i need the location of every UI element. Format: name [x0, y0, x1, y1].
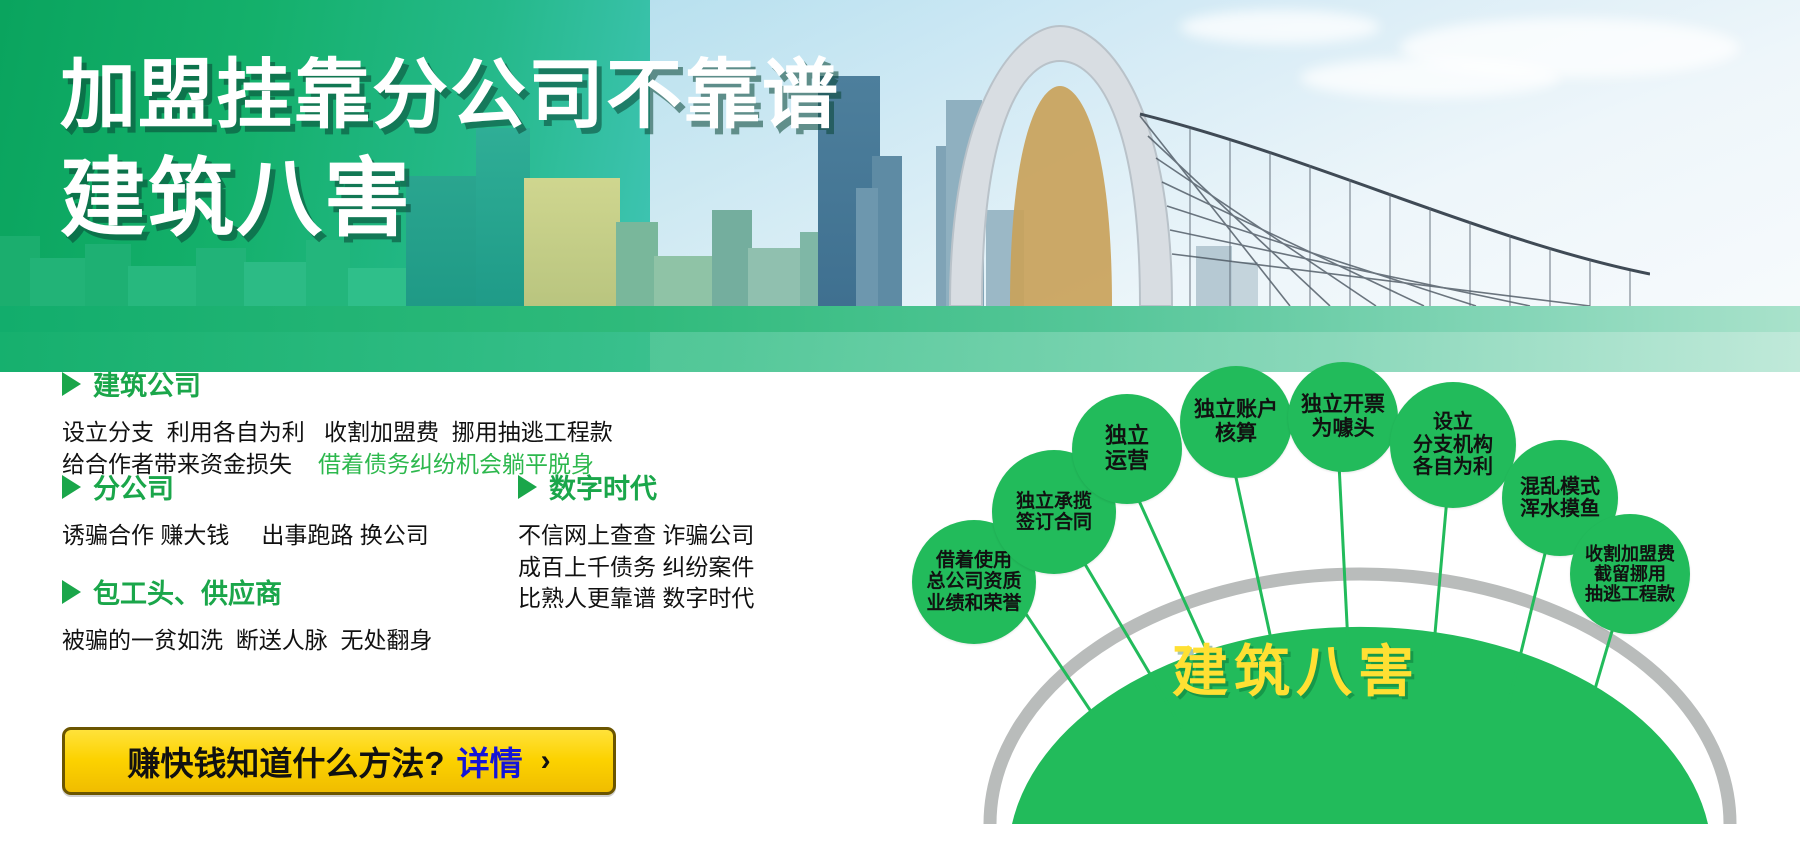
bubble-item[interactable]: 独立开票 为噱头	[1288, 362, 1398, 472]
bubble-item[interactable]: 独立账户 核算	[1180, 366, 1292, 478]
section-construction-company: 建筑公司 设立分支 利用各自为利 收割加盟费 挪用抽逃工程款 给合作者带来资金损…	[62, 364, 613, 480]
bubble-label: 独立 运营	[1105, 424, 1149, 473]
bridge-illustration	[890, 6, 1650, 306]
ground-strip-upper	[0, 306, 1800, 332]
section-header: 分公司	[62, 467, 429, 506]
hero-title-group: 加盟挂靠分公司不靠谱 建筑八害	[60, 58, 840, 242]
dome-center-label: 建筑八害	[1172, 627, 1420, 708]
section-body-line: 不信网上查查 诈骗公司	[518, 520, 754, 552]
section-header: 包工头、供应商	[62, 572, 433, 611]
bubble-label: 混乱模式 浑水摸鱼	[1520, 476, 1600, 521]
bubble-label: 独立账户 核算	[1194, 398, 1278, 445]
bubble-label: 独立承揽 签订合同	[1016, 491, 1092, 534]
cta-question-label: 赚快钱知道什么方法?	[127, 737, 444, 785]
triangle-bullet-icon	[62, 580, 81, 604]
section-branch-company: 分公司 诱骗合作 赚大钱 出事跑路 换公司	[62, 467, 429, 552]
section-body-line: 诱骗合作 赚大钱 出事跑路 换公司	[62, 520, 429, 552]
section-body-line: 成百上千债务 纠纷案件	[518, 552, 754, 584]
hero-title-line2: 建筑八害	[60, 156, 840, 242]
section-title: 包工头、供应商	[93, 572, 282, 611]
section-title: 数字时代	[549, 467, 657, 506]
bubble-label: 设立 分支机构 各自为利	[1413, 411, 1493, 478]
section-contractor-supplier: 包工头、供应商 被骗的一贫如洗 断送人脉 无处翻身	[62, 572, 433, 657]
hero-title-line1: 加盟挂靠分公司不靠谱	[60, 58, 840, 134]
cta-detail-link[interactable]: 详情	[457, 737, 523, 785]
section-body-line: 比熟人更靠谱 数字时代	[518, 583, 754, 615]
section-body-line: 设立分支 利用各自为利 收割加盟费 挪用抽逃工程款	[62, 417, 613, 449]
bubble-item[interactable]: 收割加盟费 截留挪用 抽逃工程款	[1570, 514, 1690, 634]
cta-button[interactable]: 赚快钱知道什么方法? 详情 ›	[62, 727, 616, 795]
chevron-right-icon: ›	[541, 744, 551, 778]
section-header: 数字时代	[518, 467, 754, 506]
section-digital-era: 数字时代 不信网上查查 诈骗公司 成百上千债务 纠纷案件 比熟人更靠谱 数字时代	[518, 467, 754, 615]
bubble-item[interactable]: 设立 分支机构 各自为利	[1390, 382, 1516, 508]
bubble-label: 收割加盟费 截留挪用 抽逃工程款	[1585, 544, 1675, 604]
triangle-bullet-icon	[518, 475, 537, 499]
section-title: 建筑公司	[93, 364, 201, 403]
section-title: 分公司	[93, 467, 174, 506]
bubble-label: 借着使用 总公司资质 业绩和荣誉	[926, 550, 1021, 614]
bubble-diagram: 建筑八害 借着使用 总公司资质 业绩和荣誉 独立承揽 签订合同 独立 运营 独立…	[930, 372, 1800, 844]
triangle-bullet-icon	[62, 372, 81, 396]
triangle-bullet-icon	[62, 475, 81, 499]
section-body-line: 被骗的一贫如洗 断送人脉 无处翻身	[62, 625, 433, 657]
bubble-label: 独立开票 为噱头	[1301, 393, 1385, 440]
hero-banner: 加盟挂靠分公司不靠谱 建筑八害	[0, 0, 1800, 372]
section-header: 建筑公司	[62, 364, 613, 403]
bubble-item[interactable]: 独立 运营	[1072, 394, 1182, 504]
